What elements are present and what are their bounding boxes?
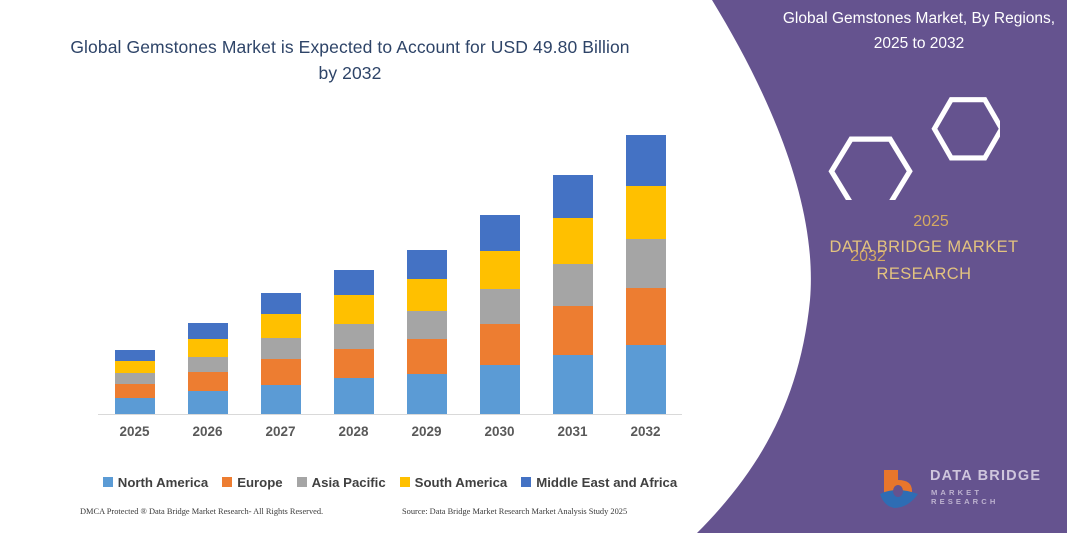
x-label-2029: 2029	[391, 424, 463, 439]
legend-label: Middle East and Africa	[536, 475, 677, 490]
data-bridge-logo: DATA BRIDGE MARKET RESEARCH	[878, 464, 1053, 514]
bar-column-2030	[480, 215, 520, 415]
legend-item-middle-east-and-africa[interactable]: Middle East and Africa	[521, 475, 677, 490]
bar-segment-north-america-2027	[261, 385, 301, 416]
bar-segment-europe-2029	[407, 339, 447, 374]
x-axis-baseline	[98, 414, 682, 415]
bar-segment-middle-east-and-africa-2030	[480, 215, 520, 251]
legend-label: Europe	[237, 475, 282, 490]
bar-segment-middle-east-and-africa-2032	[626, 135, 666, 186]
hexagon-badge-group: 2025 2032	[820, 88, 1000, 200]
chart-card: Global Gemstones Market is Expected to A…	[0, 0, 700, 533]
bar-segment-middle-east-and-africa-2029	[407, 250, 447, 279]
bar-segment-middle-east-and-africa-2026	[188, 323, 228, 339]
bar-column-2031	[553, 175, 593, 415]
bar-segment-europe-2025	[115, 384, 155, 398]
bar-segment-europe-2032	[626, 288, 666, 346]
infographic-canvas: Global Gemstones Market is Expected to A…	[0, 0, 1067, 533]
bar-segment-south-america-2031	[553, 218, 593, 264]
footer-source: Source: Data Bridge Market Research Mark…	[402, 507, 627, 516]
bar-segment-north-america-2026	[188, 391, 228, 415]
bar-segment-south-america-2028	[334, 295, 374, 323]
legend-item-south-america[interactable]: South America	[400, 475, 508, 490]
x-axis-tick-labels: 20252026202720282029203020312032	[98, 424, 682, 444]
bar-segment-north-america-2029	[407, 374, 447, 415]
bar-segment-europe-2026	[188, 372, 228, 391]
x-label-2028: 2028	[318, 424, 390, 439]
bar-segment-asia-pacific-2027	[261, 338, 301, 359]
x-label-2026: 2026	[172, 424, 244, 439]
brand-name-line1: DATA BRIDGE MARKET	[829, 238, 1018, 256]
x-label-2032: 2032	[610, 424, 682, 439]
panel-title: Global Gemstones Market, By Regions, 202…	[775, 6, 1063, 56]
legend-label: North America	[118, 475, 208, 490]
bar-segment-asia-pacific-2032	[626, 239, 666, 287]
legend-swatch-icon	[521, 477, 531, 487]
bar-column-2026	[188, 323, 228, 415]
legend-swatch-icon	[103, 477, 113, 487]
bar-segment-south-america-2032	[626, 186, 666, 240]
bar-column-2029	[407, 250, 447, 415]
legend-swatch-icon	[297, 477, 307, 487]
bar-segment-europe-2031	[553, 306, 593, 355]
x-label-2031: 2031	[537, 424, 609, 439]
hexagon-2025-label: 2025	[896, 213, 966, 231]
bar-segment-south-america-2030	[480, 251, 520, 290]
bar-segment-asia-pacific-2028	[334, 324, 374, 349]
bar-segment-middle-east-and-africa-2028	[334, 270, 374, 295]
chart-legend: North AmericaEuropeAsia PacificSouth Ame…	[98, 472, 682, 492]
legend-item-asia-pacific[interactable]: Asia Pacific	[297, 475, 386, 490]
bar-segment-north-america-2031	[553, 355, 593, 415]
stacked-bar-plot-area	[98, 120, 682, 415]
legend-item-europe[interactable]: Europe	[222, 475, 282, 490]
bar-column-2027	[261, 293, 301, 415]
x-label-2025: 2025	[99, 424, 171, 439]
bar-segment-asia-pacific-2030	[480, 289, 520, 323]
bar-segment-south-america-2025	[115, 361, 155, 373]
data-bridge-b-logo-icon	[878, 466, 928, 512]
legend-label: South America	[415, 475, 508, 490]
bar-segment-north-america-2025	[115, 398, 155, 415]
hexagon-2025-icon	[934, 100, 1000, 158]
footer-copyright: DMCA Protected ® Data Bridge Market Rese…	[80, 507, 323, 516]
bar-segment-south-america-2026	[188, 339, 228, 357]
brand-name: DATA BRIDGE MARKET RESEARCH	[790, 234, 1058, 288]
bar-segment-middle-east-and-africa-2027	[261, 293, 301, 314]
bar-segment-asia-pacific-2025	[115, 373, 155, 384]
bar-segment-europe-2027	[261, 359, 301, 384]
bar-segment-north-america-2032	[626, 345, 666, 415]
chart-title: Global Gemstones Market is Expected to A…	[60, 34, 640, 86]
bar-segment-middle-east-and-africa-2025	[115, 350, 155, 361]
bar-segment-north-america-2030	[480, 365, 520, 415]
bar-segment-europe-2030	[480, 324, 520, 365]
legend-swatch-icon	[222, 477, 232, 487]
bar-column-2032	[626, 135, 666, 415]
x-label-2030: 2030	[464, 424, 536, 439]
hexagon-2032-icon	[832, 139, 910, 200]
bar-segment-europe-2028	[334, 349, 374, 379]
footer: DMCA Protected ® Data Bridge Market Rese…	[0, 505, 700, 525]
bar-segment-south-america-2029	[407, 279, 447, 311]
x-label-2027: 2027	[245, 424, 317, 439]
logo-wordmark-top: DATA BRIDGE	[930, 468, 1041, 484]
bar-segment-south-america-2027	[261, 314, 301, 338]
bar-segment-asia-pacific-2031	[553, 264, 593, 305]
bar-segment-asia-pacific-2029	[407, 311, 447, 339]
brand-name-line2: RESEARCH	[877, 265, 972, 283]
bar-column-2028	[334, 270, 374, 415]
logo-wordmark-bottom: MARKET RESEARCH	[931, 488, 1053, 506]
bar-segment-asia-pacific-2026	[188, 357, 228, 373]
legend-label: Asia Pacific	[312, 475, 386, 490]
legend-item-north-america[interactable]: North America	[103, 475, 208, 490]
legend-swatch-icon	[400, 477, 410, 487]
bar-column-2025	[115, 350, 155, 415]
bar-segment-north-america-2028	[334, 378, 374, 415]
bar-segment-middle-east-and-africa-2031	[553, 175, 593, 218]
